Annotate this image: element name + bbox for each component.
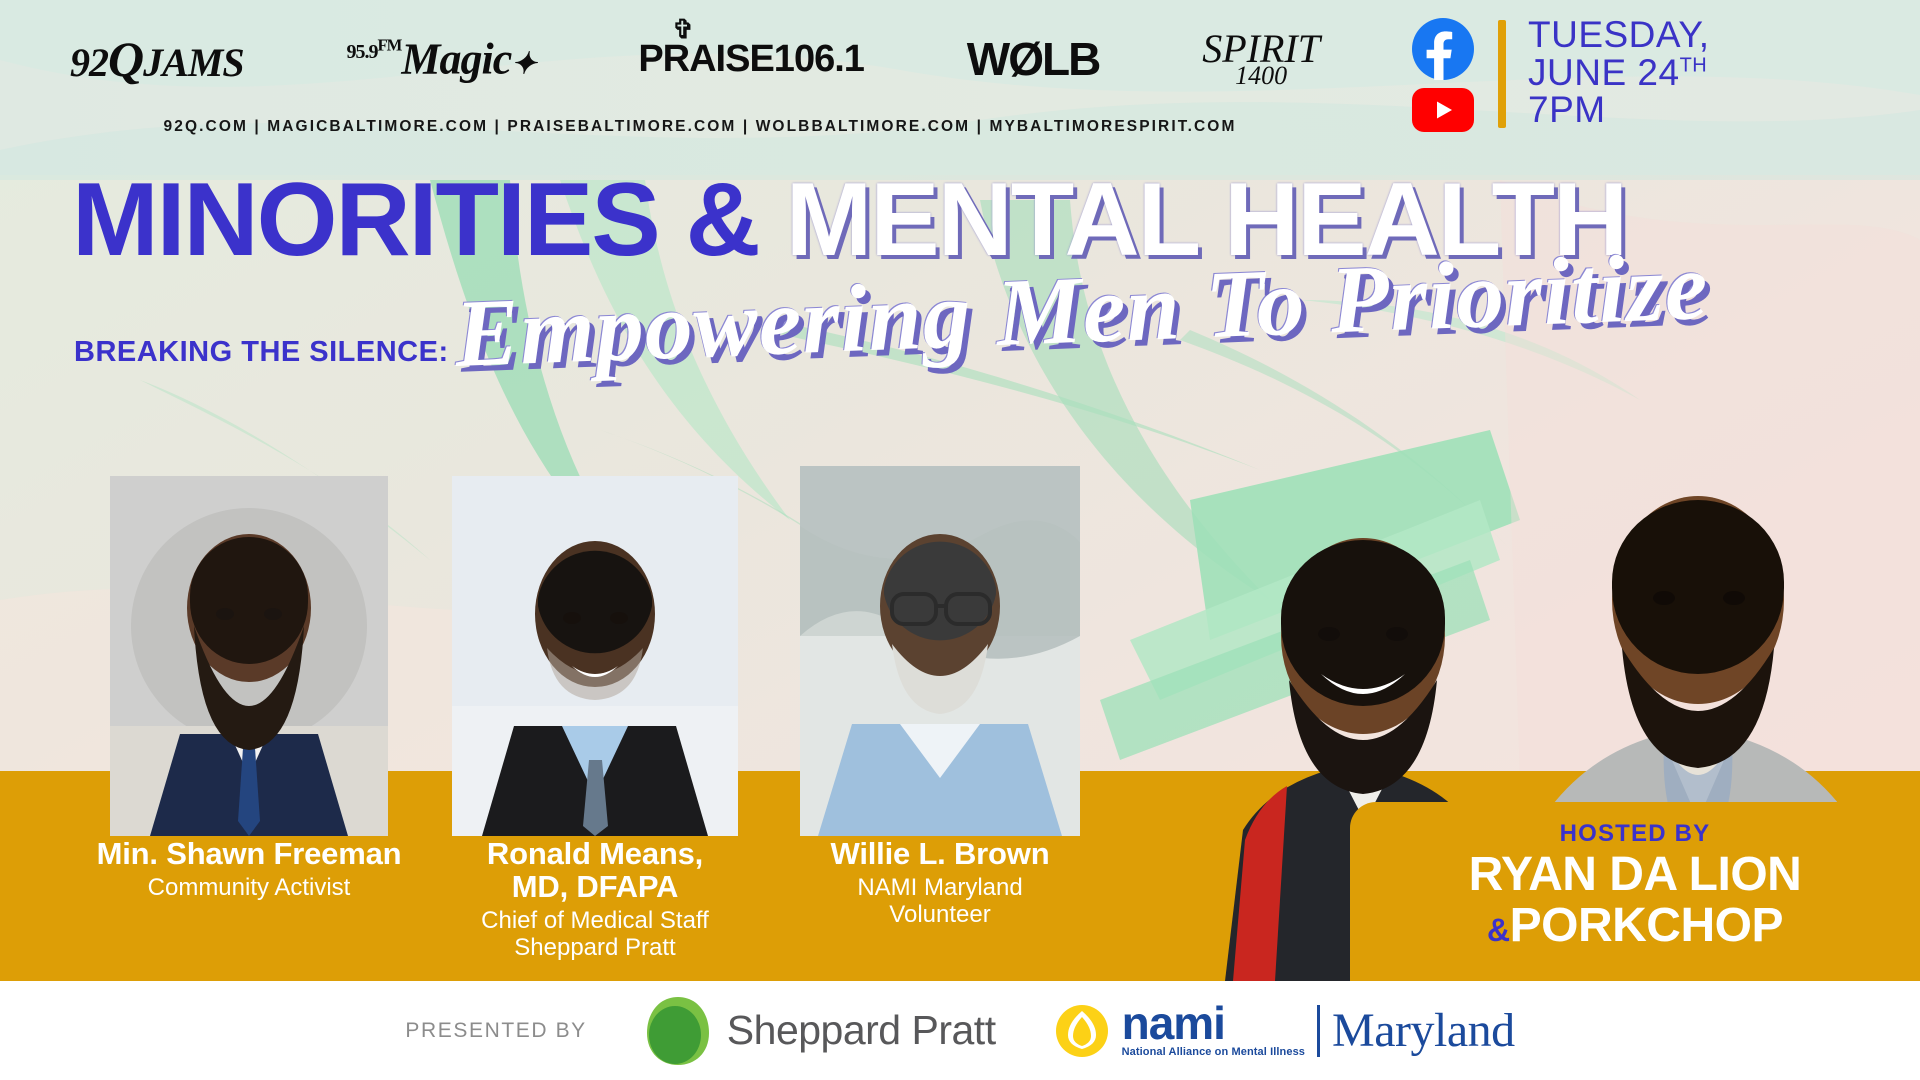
nami-state: Maryland [1332, 1003, 1515, 1058]
speaker-caption-3: Willie L. Brown NAMI Maryland Volunteer [760, 838, 1120, 929]
speaker-name-line-2: MD, DFAPA [400, 871, 790, 904]
host-name-2-text: PORKCHOP [1510, 899, 1783, 952]
sheppard-pratt-logo: Sheppard Pratt [645, 995, 996, 1067]
event-datetime: TUESDAY, JUNE 24TH 7PM [1528, 16, 1710, 129]
speaker-name-line-1: Ronald Means, [400, 838, 790, 871]
hosted-by-label: HOSTED BY [1352, 820, 1918, 848]
speaker-photo-1 [110, 476, 388, 836]
speaker-caption-1: Min. Shawn Freeman Community Activist [46, 838, 452, 902]
sheppard-pratt-mark-icon [645, 995, 711, 1067]
host-name-1: RYAN DA LION [1352, 850, 1918, 901]
speaker-role: Community Activist [46, 875, 452, 902]
sheppard-pratt-text: Sheppard Pratt [727, 1007, 996, 1054]
youtube-icon[interactable] [1412, 88, 1474, 132]
social-icons [1412, 18, 1474, 132]
nami-wordmark: nami [1122, 1003, 1305, 1044]
spirit-1400-logo: SPIRIT1400 [1202, 30, 1320, 89]
event-time: 7PM [1528, 91, 1710, 129]
92q-jams-logo: 92QJAMS [70, 34, 244, 84]
event-flyer: 92QJAMS 95.9FMMagic✦ ✞PRAISE106.1 WØLB S… [0, 0, 1920, 1080]
nami-divider [1317, 1005, 1320, 1057]
station-websites: 92Q.COM | MAGICBALTIMORE.COM | PRAISEBAL… [70, 118, 1330, 136]
praise-1061-logo: ✞PRAISE106.1 [638, 40, 864, 78]
title-ampersand: & [686, 162, 759, 278]
speaker-photo-3 [800, 466, 1080, 836]
presented-by-label: PRESENTED BY [405, 1019, 586, 1043]
host-name-2: &PORKCHOP [1352, 901, 1918, 952]
host-ampersand: & [1487, 912, 1510, 948]
event-date: JUNE 24TH [1528, 54, 1710, 92]
gold-divider [1498, 20, 1506, 128]
speaker-photo-2 [452, 476, 738, 836]
facebook-icon[interactable] [1412, 18, 1474, 80]
speaker-role-line-2: Volunteer [760, 902, 1120, 929]
title-minorities: MINORITIES [72, 162, 659, 278]
speaker-role-line-2: Sheppard Pratt [400, 935, 790, 962]
event-day: TUESDAY, [1528, 16, 1710, 54]
speaker-name: Willie L. Brown [760, 838, 1120, 871]
dove-icon: ✞ [672, 16, 693, 42]
subtitle-kicker: BREAKING THE SILENCE: [74, 336, 449, 369]
nami-tagline: National Alliance on Mental Illness [1122, 1046, 1305, 1058]
footer-sponsors: PRESENTED BY Sheppard Pratt nami Nationa… [0, 981, 1920, 1080]
nami-maryland-logo: nami National Alliance on Mental Illness… [1054, 1003, 1515, 1059]
wolb-logo: WØLB [967, 36, 1100, 82]
speaker-name: Min. Shawn Freeman [46, 838, 452, 871]
event-date-block: TUESDAY, JUNE 24TH 7PM [1412, 14, 1710, 132]
hosts-block: HOSTED BY RYAN DA LION &PORKCHOP [1352, 820, 1918, 952]
speaker-role-line-1: Chief of Medical Staff [400, 908, 790, 935]
speaker-role-line-1: NAMI Maryland [760, 875, 1120, 902]
nami-flame-icon [1054, 1003, 1110, 1059]
speaker-caption-2: Ronald Means, MD, DFAPA Chief of Medical… [400, 838, 790, 961]
magic-959-logo: 95.9FMMagic✦ [347, 37, 536, 81]
